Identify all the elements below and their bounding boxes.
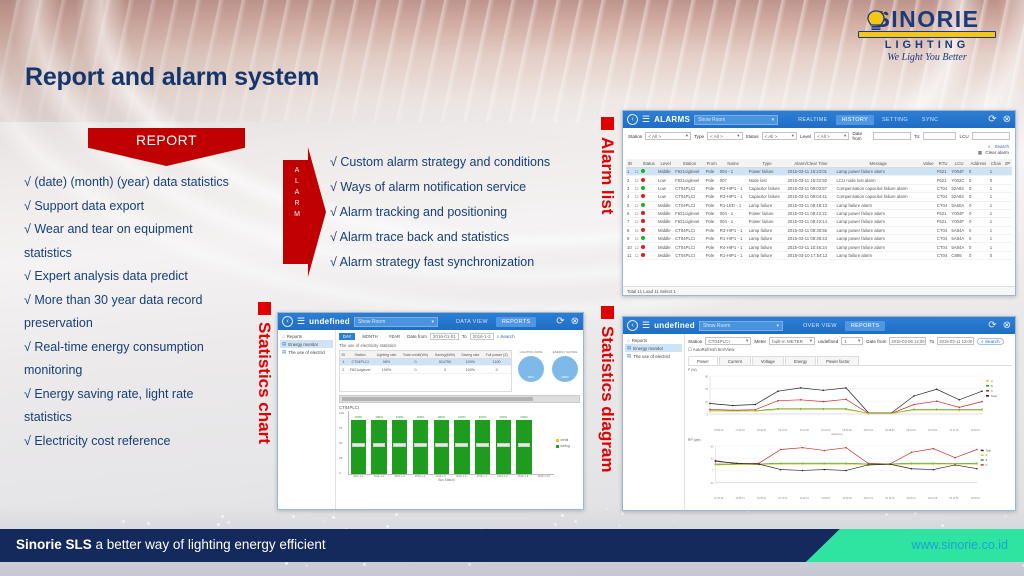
bar-column: 100% (411, 411, 430, 474)
stats-search-button[interactable]: ⌕ Search (497, 334, 515, 339)
table-cell (921, 193, 936, 201)
table-row[interactable]: 7☐MiddleF621ciglevelPole004 - 1Power fai… (626, 218, 1012, 226)
svg-text:60: 60 (711, 445, 714, 448)
table-cell: 2015-03-10 17:54:12 (786, 251, 835, 259)
x-tick: 05:11:56 (943, 497, 964, 500)
tree-item-label: The use of electricl (633, 354, 670, 359)
table-cell: Middle (657, 226, 674, 234)
background-sparkle (322, 520, 325, 523)
table-cell: Node lost (748, 176, 787, 184)
table-cell: 6 (626, 209, 634, 217)
filter-label-station: Station (628, 134, 642, 139)
table-cell: 1 (989, 184, 1003, 192)
stats-body: ⌂Reports▤Energy monitor▤The use of elect… (278, 330, 583, 509)
legend-swatch (556, 445, 559, 448)
svg-text:-20: -20 (710, 482, 714, 485)
x-tick: 2016-1-9 (513, 475, 534, 478)
gauge-label: LIGHTING RATE (516, 350, 546, 354)
table-cell: Middle (657, 201, 674, 209)
svg-text:80: 80 (705, 375, 708, 379)
tree-item[interactable]: ▤The use of electricl (625, 352, 682, 360)
svg-text:A: A (991, 379, 993, 383)
table-row[interactable]: 2F621ciglevel100%00100%0 (340, 366, 511, 373)
table-cell: Pole (705, 218, 719, 226)
x-tick: 2016-1-2 (369, 475, 390, 478)
x-tick: 2016-1-10 (533, 475, 554, 478)
table-row[interactable]: 11☐MiddleCT04PLCIPoleR1-HIP1 - 1Lamp fai… (626, 251, 1012, 259)
table-cell: 1 (626, 168, 634, 176)
bar-column: 100% (515, 411, 534, 474)
column-header[interactable]: Saving rate (458, 351, 482, 359)
input-date_from_value[interactable]: 2016-01-01 (430, 333, 459, 340)
alarm-status-bar: Total 11 Load 11 Select 1 (623, 286, 1015, 295)
x-tick: 10:19:04 (922, 429, 943, 432)
table-cell: Pole (705, 193, 719, 201)
stats-tab-bar[interactable]: DATA VIEWREPORTS (450, 317, 536, 327)
filter-input-lcu_value[interactable] (972, 132, 1010, 140)
table-row[interactable]: 6☐MiddleF621ciglevelPole004 - 1Power fai… (626, 209, 1012, 217)
menu-icon[interactable]: ☰ (297, 317, 305, 326)
stats-period-bar[interactable]: DAYMONTHYEARDate from2016-01-01To2016-1-… (339, 333, 580, 340)
gauge-label: ENERGY SAVING (550, 350, 580, 354)
back-icon[interactable]: ‹ (282, 316, 293, 327)
tree-item[interactable]: ⌂Reports (625, 337, 682, 344)
statistics-chart-window[interactable]: ‹ ☰ undefined Show Room ▾ DATA VIEWREPOR… (277, 312, 584, 510)
table-cell: 2015-03-11 08:42:21 (786, 209, 835, 217)
tab-over-view[interactable]: OVER VIEW (797, 321, 843, 331)
column-header[interactable]: Full power (Z) (482, 351, 511, 359)
bar-value-label: 100% (434, 415, 449, 419)
tree-item-label: Reports (632, 338, 647, 343)
bar-chart-legend: creditsaving (554, 411, 580, 475)
table-cell: 1 (989, 243, 1003, 251)
diag-search-button[interactable]: ⌕ Search (977, 338, 1003, 345)
tab-realtime[interactable]: REALTIME (792, 115, 834, 125)
gauge-value: 98% (518, 375, 544, 379)
table-cell: F621ciglevel (674, 168, 705, 176)
x-tick: 19:10:11 (772, 429, 793, 432)
input-date_from_value[interactable]: 2016-03-06 12:00 (889, 337, 926, 345)
table-cell: 100% (458, 359, 482, 366)
alarm-clear-row[interactable]: ▦ Clear alarm (623, 149, 1015, 159)
table-cell: 0 (968, 251, 989, 259)
column-header[interactable]: LCU (950, 159, 968, 168)
x-tick: 14:59:01 (815, 497, 836, 500)
tree-item[interactable]: ⌂Reports (280, 333, 333, 340)
label-to_label: To (929, 339, 934, 344)
bar-column: 100% (453, 411, 472, 474)
table-cell: F621ciglevel (674, 176, 705, 184)
checkbox-icon[interactable]: ☐ (688, 347, 692, 352)
filter-select-level[interactable]: < All >▾ (814, 132, 849, 140)
column-header[interactable]: Lighting rate (374, 351, 400, 359)
table-row[interactable]: 8☐MiddleCT04PLCIPoleR3-HIP1 - 1Lamp fail… (626, 226, 1012, 234)
x-tick: 06:26:11 (901, 497, 922, 500)
line-chart-1-x-label: datetime (688, 432, 1012, 436)
table-cell: Low (657, 193, 674, 201)
filter-input-to_value[interactable] (923, 132, 956, 140)
value-tab-current[interactable]: Current (719, 356, 751, 365)
table-cell: Middle (657, 235, 674, 243)
stats-table[interactable]: IDStationLighting rateTotal credit(Wh)Sa… (340, 351, 511, 374)
table-cell: Compensation capacitor failure alarm (835, 193, 921, 201)
column-header[interactable]: Address (968, 159, 989, 168)
alarm-clear-label: Clear alarm (985, 150, 1009, 156)
table-cell: LCU node lost alarm (835, 176, 921, 184)
column-header[interactable]: Chan (989, 159, 1003, 168)
table-cell: Lamp power failure alarm (835, 235, 921, 243)
table-cell: CT04 (936, 226, 951, 234)
alarm-tab-bar[interactable]: REALTIMEHISTORYSETTINGSYNC (792, 115, 944, 125)
x-tick: 11:59:25 (708, 497, 729, 500)
feature-bullet: preservation (24, 316, 279, 330)
column-header[interactable]: Level (657, 159, 674, 168)
svg-text:A: A (986, 454, 988, 457)
table-cell (921, 235, 936, 243)
line-chart-1-x-axis: 15:59:2017:49:1019:36:2019:10:1111:12:30… (688, 429, 1012, 432)
table-cell (1003, 243, 1012, 251)
back-icon[interactable]: ‹ (627, 114, 638, 125)
bar-column: 100% (349, 411, 368, 474)
table-cell (1003, 218, 1012, 226)
table-cell (921, 184, 936, 192)
filter-label-level: Level (800, 134, 811, 139)
gauge: LIGHTING RATE98% (516, 350, 546, 392)
table-cell: Pole (705, 226, 719, 234)
x-tick: 2016-1-1 (348, 475, 369, 478)
bar-value-label: 100% (496, 415, 511, 419)
tree-item-label: The use of electricl (288, 350, 325, 355)
tab-reports[interactable]: REPORTS (496, 317, 537, 327)
background-sparkle (292, 515, 295, 518)
diag-tree-panel[interactable]: ⌂Reports▤Energy monitor▤The use of elect… (623, 334, 685, 510)
column-header[interactable]: ID (626, 159, 634, 168)
alarm-table-wrap: IDStatusLevelStationFromNameTypeAlarm/Cl… (623, 159, 1015, 260)
line-chart-2: RP (var) 60337-20TotalABC 11:59:2512:56:… (688, 438, 1012, 500)
bar-value-label: 100% (475, 415, 490, 419)
x-tick: 15:59:20 (708, 429, 729, 432)
filter-label-lcu_label: LCU (959, 134, 968, 139)
status-dot (640, 251, 657, 259)
filter-input-date_from_value[interactable] (873, 132, 911, 140)
table-cell: F621 (936, 168, 951, 176)
column-header[interactable]: Value (921, 159, 936, 168)
table-cell: 3 (626, 184, 634, 192)
background-sparkle (363, 563, 366, 566)
bar-chart-x-label: Bus Station (339, 478, 580, 482)
y-tick: 0 (339, 471, 348, 475)
logo-tagline: We Light You Better (852, 52, 1002, 63)
table-cell: Pole (705, 168, 719, 176)
diag-station-select[interactable]: Show Room ▾ (699, 321, 783, 331)
background-sparkle (332, 516, 335, 519)
table-cell: 100% (374, 366, 400, 373)
table-cell: CT04PLCI (674, 243, 705, 251)
table-row[interactable]: 5☐MiddleCT04PLCIPoleR1-LED - 1Lamp failu… (626, 201, 1012, 209)
svg-text:B: B (986, 459, 988, 462)
feature-bullet: √ Support data export (24, 199, 279, 213)
background-sparkle (227, 521, 230, 524)
table-cell: 98% (374, 359, 400, 366)
feature-bullet: √ More than 30 year data record (24, 293, 279, 307)
stats-scrollbar[interactable] (339, 395, 580, 403)
label-date_from_label: Date from (407, 334, 427, 339)
table-cell: Low (657, 176, 674, 184)
column-header[interactable]: ID (340, 351, 347, 359)
column-header[interactable]: RTU (936, 159, 951, 168)
table-cell: Y002C (950, 176, 968, 184)
feature-bullet: √ Custom alarm strategy and conditions (330, 155, 590, 169)
table-cell: 0 (968, 193, 989, 201)
report-arrow-label: REPORT (88, 132, 245, 148)
period-tab-day[interactable]: DAY (339, 333, 355, 340)
background-sparkle (468, 563, 471, 566)
table-cell: Y004F (950, 218, 968, 226)
alarm-station-select-value: Show Room (698, 117, 725, 123)
table-cell: 7 (626, 218, 634, 226)
column-header[interactable]: Station (674, 159, 705, 168)
refresh-icon[interactable]: ⟳ (988, 115, 996, 125)
table-cell: Lamp power failure alarm (835, 168, 921, 176)
status-dot (640, 218, 657, 226)
feature-bullet: √ Expert analysis data predict (24, 269, 279, 283)
diag-tab-bar[interactable]: OVER VIEWREPORTS (797, 321, 885, 331)
table-cell: 52A84 (950, 193, 968, 201)
bar-value-label: 100% (371, 415, 386, 419)
table-cell: Middle (657, 168, 674, 176)
tab-history[interactable]: HISTORY (836, 115, 874, 125)
table-cell (1003, 226, 1012, 234)
refresh-icon[interactable]: ⟳ (988, 321, 996, 331)
stats-station-select[interactable]: Show Room ▾ (354, 317, 438, 327)
background-sparkle (621, 512, 624, 515)
background-sparkle (1004, 515, 1007, 518)
close-icon[interactable]: ⊗ (1003, 321, 1011, 331)
tab-setting[interactable]: SETTING (876, 115, 914, 125)
filter-select-2[interactable]: 1▾ (841, 337, 863, 345)
feature-bullet: √ Energy saving rate, light rate (24, 387, 279, 401)
bar-chart-x-axis: 2016-1-12016-1-22016-1-32016-1-42016-1-5… (339, 475, 580, 478)
x-tick: 11:12:30 (794, 429, 815, 432)
feature-bullet: √ (date) (month) (year) data statistics (24, 175, 279, 189)
tab-sync[interactable]: SYNC (916, 115, 944, 125)
tab-reports[interactable]: REPORTS (845, 321, 886, 331)
table-row[interactable]: 1☐MiddleF621ciglevelPole004 - 1Power fai… (626, 168, 1012, 176)
feature-bullet: √ Electricity cost reference (24, 434, 279, 448)
refresh-icon[interactable]: ⟳ (556, 317, 564, 327)
y-tick: 100 (339, 411, 348, 415)
tab-data-view[interactable]: DATA VIEW (450, 317, 494, 327)
table-cell: 0 (968, 218, 989, 226)
stats-tree-panel[interactable]: ⌂Reports▤Energy monitor▤The use of elect… (278, 330, 336, 509)
status-dot (640, 201, 657, 209)
value-tab-power-factor[interactable]: Power factor (817, 356, 859, 365)
background-sparkle (885, 513, 888, 516)
column-header[interactable]: Status (640, 159, 657, 168)
alarm-station-select[interactable]: Show Room ▾ (694, 115, 778, 125)
menu-icon[interactable]: ☰ (642, 321, 650, 330)
bar-marker (455, 443, 468, 447)
alarm-window-title: ALARMS (654, 115, 690, 124)
table-cell: Middle (657, 209, 674, 217)
table-cell (1003, 235, 1012, 243)
file-icon: ▤ (627, 353, 631, 359)
table-cell: Middle (657, 243, 674, 251)
table-row[interactable]: 2☐LowF621ciglevelPole007Node lost2015-03… (626, 176, 1012, 184)
bar-column: 100% (432, 411, 451, 474)
diag-autorefresh-row[interactable]: ☐ AutoRefresh 5m/View (688, 347, 1012, 353)
column-header[interactable]: ZP (1003, 159, 1012, 168)
table-cell: CT04 (936, 201, 951, 209)
table-cell: 2015-03-11 10:46:24 (786, 243, 835, 251)
table-cell (1003, 193, 1012, 201)
input-to_value[interactable]: 2016-03-11 12:00 (937, 337, 974, 345)
bar: 100% (434, 420, 449, 474)
value-tab-voltage[interactable]: Voltage (752, 356, 784, 365)
x-tick: 10:58:07 (965, 497, 986, 500)
stats-scrollbar-thumb[interactable] (342, 397, 533, 401)
table-cell (921, 243, 936, 251)
stats-window-titlebar: ‹ ☰ undefined Show Room ▾ DATA VIEWREPOR… (278, 313, 583, 330)
background-sparkle (914, 512, 917, 515)
period-tab-year[interactable]: YEAR (385, 333, 404, 340)
column-header[interactable]: Message (835, 159, 921, 168)
table-cell: 1 (989, 218, 1003, 226)
filter-select-1[interactable]: built-in METER▾ (769, 337, 815, 345)
statistics-diagram-window[interactable]: ‹ ☰ undefined Show Room ▾ OVER VIEWREPOR… (622, 316, 1016, 511)
bar-chart-plot: 100%100%100%100%100%100%100%100%100% (348, 411, 554, 475)
table-cell: Lamp power failure alarm (835, 226, 921, 234)
column-header[interactable]: Saving(kWh) (432, 351, 459, 359)
table-cell: 0 (968, 168, 989, 176)
table-cell: F621ciglevel (674, 218, 705, 226)
input-to_value[interactable]: 2016-1-2 (470, 333, 494, 340)
period-tab-month[interactable]: MONTH (358, 333, 381, 340)
table-cell: Y004F (950, 168, 968, 176)
bar-value-label: 100% (413, 415, 428, 419)
alarm-window-controls: ⟳ ⊗ (988, 115, 1011, 125)
diag-window-titlebar: ‹ ☰ undefined Show Room ▾ OVER VIEWREPOR… (623, 317, 1015, 334)
table-row[interactable]: 10☐MiddleCT04PLCIPoleR4-HIP1 - 1Lamp fai… (626, 243, 1012, 251)
table-row[interactable]: 1CT04PLCI98%0514750100%1100 (340, 359, 511, 366)
bar-column: 100% (390, 411, 409, 474)
filter-select-status[interactable]: < All >▾ (762, 132, 797, 140)
table-cell: R3-HIP1 - 1 (719, 226, 748, 234)
table-cell: CT04PLCI (674, 251, 705, 259)
value-tab-energy[interactable]: Energy (785, 356, 816, 365)
clear-alarm-icon: ▦ (978, 150, 982, 156)
alarm-filter-row[interactable]: Station< All >▾Type< All >▾Status< All >… (623, 128, 1015, 144)
status-dot (640, 243, 657, 251)
alarm-table[interactable]: IDStatusLevelStationFromNameTypeAlarm/Cl… (626, 159, 1012, 260)
back-icon[interactable]: ‹ (627, 320, 638, 331)
value-tab-power[interactable]: Power (688, 356, 718, 365)
bar: 100% (371, 420, 386, 474)
table-cell: Compensation capacitor failure alarm (835, 184, 921, 192)
table-cell: Lamp failure (748, 235, 787, 243)
table-row[interactable]: 4☐LowCT04PLCIPoleR3-HIP1 - 1Capacitor fa… (626, 193, 1012, 201)
table-cell: CT04PLCI (347, 359, 374, 366)
table-cell: 0 (432, 366, 459, 373)
x-tick: 2016-1-7 (472, 475, 493, 478)
close-icon[interactable]: ⊗ (1003, 115, 1011, 125)
column-header[interactable]: Total credit(Wh) (399, 351, 431, 359)
column-header[interactable]: From (705, 159, 719, 168)
svg-text:53: 53 (705, 387, 708, 391)
tree-item-label: Energy monitor (633, 346, 663, 351)
table-cell: Pole (705, 251, 719, 259)
svg-text:Total: Total (991, 394, 997, 398)
column-header[interactable]: Type (748, 159, 787, 168)
gauge-dial: 100% (552, 356, 578, 382)
legend-label: saving (561, 444, 570, 448)
filter-select-type[interactable]: < All >▾ (707, 132, 742, 140)
status-dot (640, 193, 657, 201)
x-tick: 16:52:18 (836, 497, 857, 500)
table-cell: 0 (968, 184, 989, 192)
table-cell: 0 (399, 359, 431, 366)
table-cell: 5A84A (950, 226, 968, 234)
alarm-list-window[interactable]: ‹ ☰ ALARMS Show Room ▾ REALTIMEHISTORYSE… (622, 110, 1016, 296)
table-cell: Lamp failure (748, 226, 787, 234)
background-sparkle (561, 514, 564, 517)
table-cell: Lamp power failure alarm (835, 218, 921, 226)
table-row[interactable]: 9☐MiddleCT04PLCIPoleR1-HIP1 - 1Lamp fail… (626, 235, 1012, 243)
x-tick: 08:19:51 (858, 429, 879, 432)
table-cell: R1-HIP1 - 1 (719, 251, 748, 259)
filter-label-date_from_label: Date from (852, 131, 869, 141)
column-header[interactable]: Station (347, 351, 374, 359)
chevron-down-icon: ▾ (431, 319, 434, 325)
legend-item: credit (556, 438, 580, 442)
tree-item[interactable]: ▤Energy monitor (280, 340, 333, 348)
diag-filter-row[interactable]: StationCT04PLCI▾Meterbuilt-in METER▾unde… (688, 337, 1012, 345)
table-cell: Capacitor failure (748, 193, 787, 201)
filter-select-station[interactable]: < All >▾ (645, 132, 691, 140)
menu-icon[interactable]: ☰ (642, 115, 650, 124)
table-cell: Pole (705, 201, 719, 209)
table-cell: 514750 (432, 359, 459, 366)
tree-item[interactable]: ▤Energy monitor (625, 344, 682, 352)
table-cell: 0 (968, 176, 989, 184)
bar-value-label: 100% (392, 415, 407, 419)
filter-label-1: Meter (754, 339, 766, 344)
table-row[interactable]: 3☐LowCT04PLCIPoleR3-HIP1 - 1Capacitor fa… (626, 184, 1012, 192)
table-cell: 004 - 1 (719, 218, 748, 226)
svg-text:C: C (991, 389, 993, 393)
x-tick: 2016-1-4 (410, 475, 431, 478)
svg-text:33: 33 (711, 457, 714, 460)
column-header[interactable]: Name (719, 159, 748, 168)
filter-select-0[interactable]: CT04PLCI▾ (705, 337, 751, 345)
footer-tagline: a better way of lighting energy efficien… (92, 537, 326, 552)
tree-item[interactable]: ▤The use of electricl (280, 348, 333, 356)
table-cell: 5A60A (950, 201, 968, 209)
legend-label: credit (561, 438, 569, 442)
table-cell: 0 (968, 226, 989, 234)
table-cell: CT04 (936, 243, 951, 251)
table-cell: 0 (482, 366, 511, 373)
diag-value-tabs[interactable]: PowerCurrentVoltageEnergyPower factor (688, 356, 1012, 366)
x-tick: 09:30:15 (901, 429, 922, 432)
bar-marker (497, 443, 510, 447)
table-cell: CT04PLCI (674, 193, 705, 201)
table-cell (921, 209, 936, 217)
filter-label-to_label: To: (914, 134, 920, 139)
close-icon[interactable]: ⊗ (571, 317, 579, 327)
column-header[interactable]: Alarm/Clear Time (786, 159, 835, 168)
x-tick: 17:49:10 (729, 429, 750, 432)
